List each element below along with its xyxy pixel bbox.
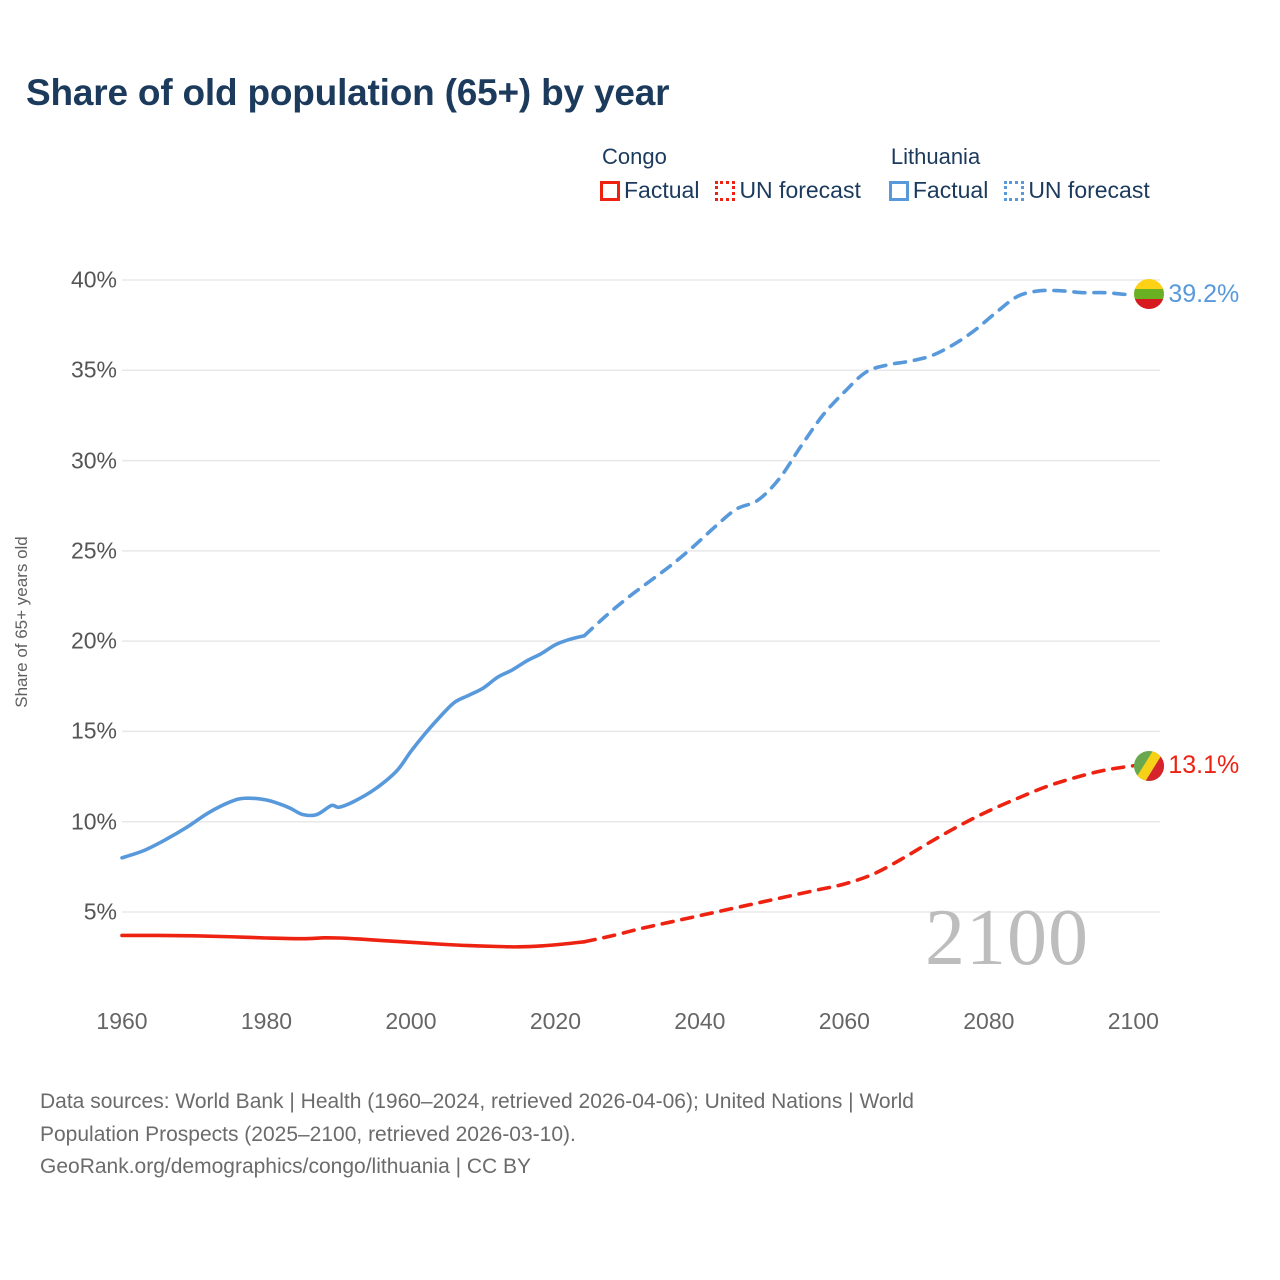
lithuania-flag-icon	[1134, 279, 1164, 309]
footer-sources: Data sources: World Bank | Health (1960–…	[40, 1086, 1220, 1184]
chart-canvas	[0, 0, 1280, 1030]
plot-area: Share of 65+ years old 5%10%15%20%25%30%…	[0, 0, 1280, 1030]
end-marker-congo: 13.1%	[1134, 751, 1239, 781]
series-line	[122, 636, 584, 858]
congo-flag-icon	[1134, 751, 1164, 781]
footer-line-2: Population Prospects (2025–2100, retriev…	[40, 1119, 1220, 1152]
end-marker-lithuania: 39.2%	[1134, 279, 1239, 309]
end-value-lithuania: 39.2%	[1168, 280, 1239, 309]
chart-page: Share of old population (65+) by year Co…	[0, 0, 1280, 1280]
series-line	[122, 935, 584, 946]
year-watermark: 2100	[925, 893, 1089, 984]
end-value-congo: 13.1%	[1168, 751, 1239, 780]
footer-line-1: Data sources: World Bank | Health (1960–…	[40, 1086, 1220, 1119]
series-line	[584, 290, 1133, 635]
footer-line-3: GeoRank.org/demographics/congo/lithuania…	[40, 1151, 1220, 1184]
